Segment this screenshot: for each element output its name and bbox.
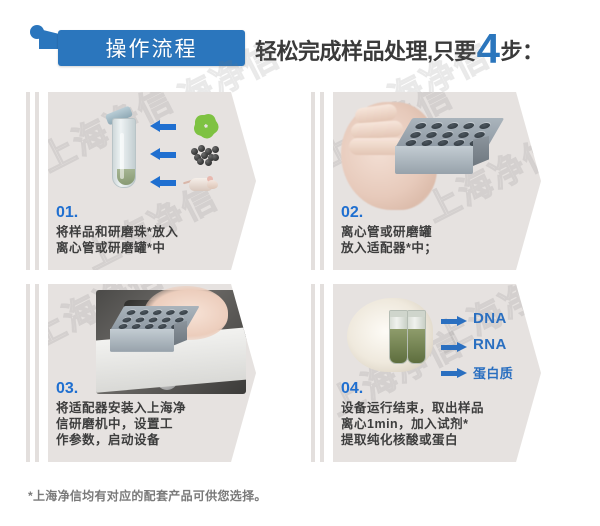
card-body: 上海净信 上海净信 DNA RNA — [333, 284, 541, 462]
arrow-right-icon — [441, 316, 467, 326]
adapter-block-icon — [395, 118, 487, 174]
card-body: 上海净信 上海净信 — [333, 92, 541, 270]
card-accent-stripes — [311, 92, 329, 270]
sample-vial-icon — [389, 310, 408, 364]
sample-vial-icon — [407, 310, 426, 364]
arrow-left-icon — [150, 176, 176, 189]
headline-prefix: 轻松完成样品处理,只要 — [255, 34, 476, 66]
footer-note: *上海净信均有对应的配套产品可供您选择。 — [28, 487, 267, 504]
headline-suffix: 步： — [500, 34, 543, 66]
step-card-02[interactable]: 上海净信 上海净信 — [311, 92, 541, 270]
step-description: 将样品和研磨珠*放入 离心管或研磨罐*中 — [56, 224, 246, 256]
mouse-sample-icon — [187, 172, 221, 194]
step-number: 01. — [56, 204, 78, 222]
card-body: 上海净信 上海净信 — [48, 92, 256, 270]
header: 操作流程 轻松完成样品处理,只要 4 步： 上海净信 上海净信 — [0, 0, 600, 88]
leaf-sample-icon — [191, 112, 221, 140]
arrow-right-icon — [441, 342, 467, 352]
step-description: 离心管或研磨罐 放入适配器*中； — [341, 224, 531, 256]
step-card-01[interactable]: 上海净信 上海净信 — [26, 92, 256, 270]
step-number: 04. — [341, 380, 363, 398]
step-description: 设备运行结束，取出样品 离心1min，加入试剂* 提取纯化核酸或蛋白 — [341, 400, 537, 448]
card-accent-stripes — [311, 284, 329, 462]
card-accent-stripes — [26, 284, 44, 462]
headline-step-count: 4 — [477, 31, 500, 67]
output-label-protein: 蛋白质 — [473, 363, 513, 382]
steps-grid: 上海净信 上海净信 — [0, 88, 600, 478]
step-description: 将适配器安装入上海净 信研磨机中，设置工 作参数，启动设备 — [56, 400, 246, 448]
operation-flow-infographic: 操作流程 轻松完成样品处理,只要 4 步： 上海净信 上海净信 上海净信 上海净… — [0, 0, 600, 526]
section-banner: 操作流程 — [30, 25, 245, 65]
headline: 轻松完成样品处理,只要 4 步： — [255, 27, 544, 69]
arrow-right-icon — [441, 368, 467, 378]
card-accent-stripes — [26, 92, 44, 270]
card-body: 上海净信 上海净信 — [48, 284, 256, 462]
centrifuge-tube-icon — [110, 110, 136, 188]
output-label-rna: RNA — [473, 336, 507, 353]
step-card-03[interactable]: 上海净信 上海净信 — [26, 284, 256, 462]
step-number: 03. — [56, 380, 78, 398]
adapter-block-icon — [110, 306, 185, 352]
banner-label: 操作流程 — [58, 30, 245, 66]
step-number: 02. — [341, 204, 363, 222]
step-card-04[interactable]: 上海净信 上海净信 DNA RNA — [311, 284, 541, 462]
output-label-dna: DNA — [473, 310, 507, 327]
arrow-left-icon — [150, 148, 176, 161]
arrow-left-icon — [150, 120, 176, 133]
grinding-beads-icon — [189, 142, 221, 166]
